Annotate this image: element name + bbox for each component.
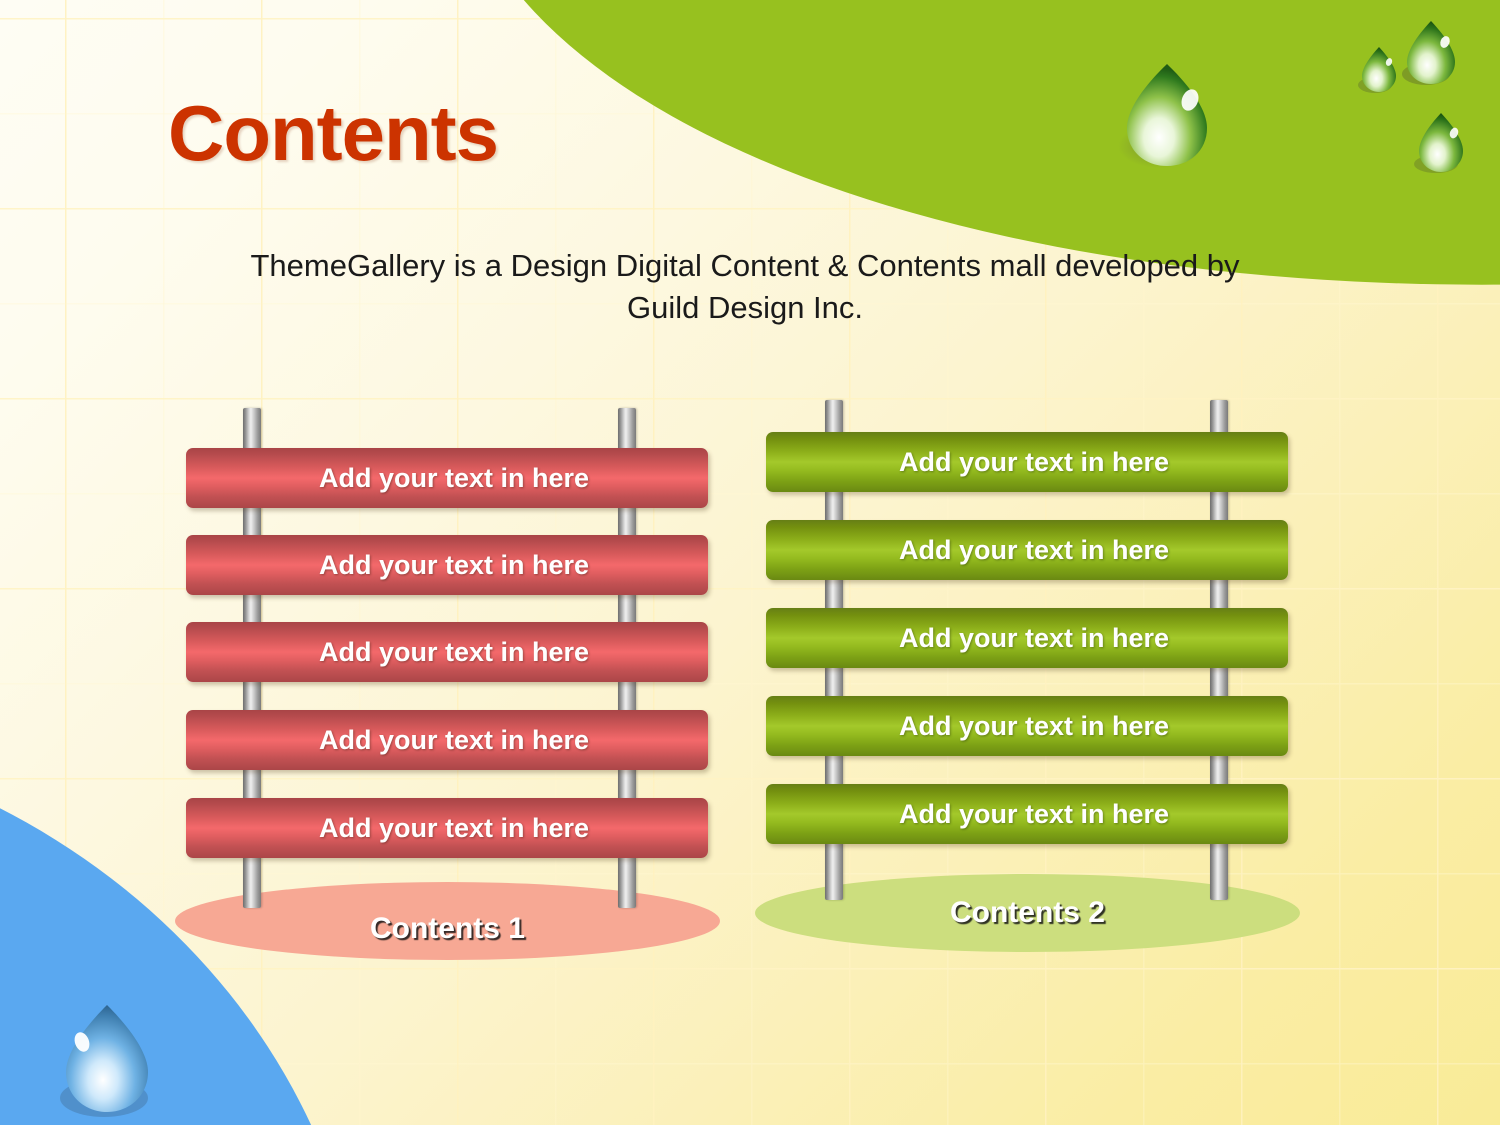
base-label-contents-1: Contents 1	[175, 912, 720, 946]
sign-column-contents-1: Add your text in here Add your text in h…	[175, 400, 720, 960]
sign-column-contents-2: Add your text in here Add your text in h…	[755, 392, 1300, 952]
sign-board-label: Add your text in here	[186, 550, 708, 581]
sign-board-label: Add your text in here	[766, 447, 1288, 478]
slide-subtitle: ThemeGallery is a Design Digital Content…	[240, 245, 1250, 329]
green-droplet-medium-icon	[1400, 18, 1462, 86]
presentation-slide: Contents ThemeGallery is a Design Digita…	[0, 0, 1500, 1125]
page-title: Contents	[168, 88, 498, 179]
green-corner-shadow	[430, 0, 1500, 421]
sign-board-label: Add your text in here	[186, 725, 708, 756]
sign-board[interactable]: Add your text in here	[186, 710, 708, 770]
sign-board[interactable]: Add your text in here	[186, 622, 708, 682]
sign-board[interactable]: Add your text in here	[186, 535, 708, 595]
sign-board-label: Add your text in here	[766, 623, 1288, 654]
sign-board-label: Add your text in here	[766, 711, 1288, 742]
green-corner-white-band	[433, 0, 1500, 404]
base-label-contents-2: Contents 2	[755, 896, 1300, 930]
sign-board-label: Add your text in here	[186, 813, 708, 844]
sign-board[interactable]: Add your text in here	[766, 520, 1288, 580]
sign-board-label: Add your text in here	[186, 637, 708, 668]
green-droplet-small-icon	[1357, 45, 1401, 93]
sign-board-label: Add your text in here	[766, 799, 1288, 830]
blue-droplet-large-icon	[52, 1000, 162, 1120]
sign-board-label: Add your text in here	[766, 535, 1288, 566]
sign-board[interactable]: Add your text in here	[766, 608, 1288, 668]
sign-board[interactable]: Add your text in here	[186, 448, 708, 508]
green-droplet-large-icon	[1112, 58, 1222, 173]
sign-board[interactable]: Add your text in here	[766, 696, 1288, 756]
sign-board[interactable]: Add your text in here	[766, 432, 1288, 492]
sign-board[interactable]: Add your text in here	[766, 784, 1288, 844]
sign-board[interactable]: Add your text in here	[186, 798, 708, 858]
green-droplet-edge-icon	[1412, 110, 1470, 174]
sign-board-label: Add your text in here	[186, 463, 708, 494]
